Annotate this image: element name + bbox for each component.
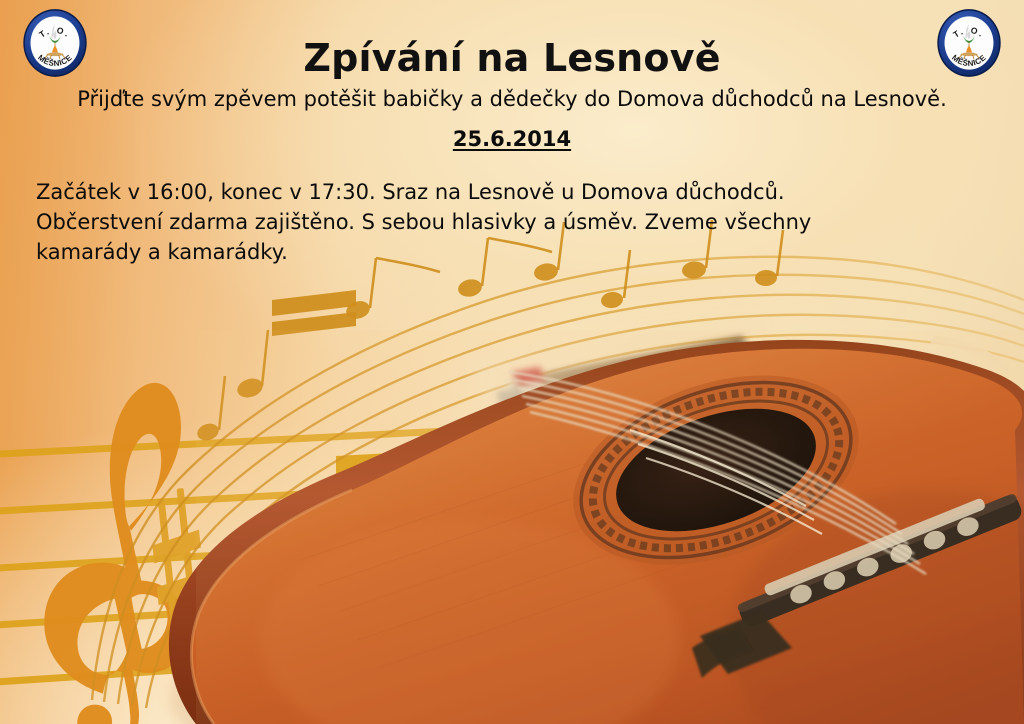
club-logo-right: T. O. MĚŠNICE <box>932 7 1006 79</box>
poster-canvas: Zpívání na Lesnově Přijďte svým zpěvem p… <box>0 0 1024 724</box>
event-date: 25.6.2014 <box>0 127 1024 151</box>
event-details-line-3: kamarády a kamarádky. <box>36 238 936 268</box>
page-title: Zpívání na Lesnově <box>0 39 1024 79</box>
event-details-line-1: Začátek v 16:00, konec v 17:30. Sraz na … <box>36 178 936 208</box>
event-details-line-2: Občerstvení zdarma zajištěno. S sebou hl… <box>36 208 936 238</box>
event-date-value: 25.6.2014 <box>453 127 571 151</box>
club-logo-left: T. O. MĚŠNICE <box>18 7 92 79</box>
invitation-text: Přijďte svým zpěvem potěšit babičky a dě… <box>0 86 1024 112</box>
poster-content: Zpívání na Lesnově Přijďte svým zpěvem p… <box>0 0 1024 724</box>
event-details: Začátek v 16:00, konec v 17:30. Sraz na … <box>36 178 936 267</box>
